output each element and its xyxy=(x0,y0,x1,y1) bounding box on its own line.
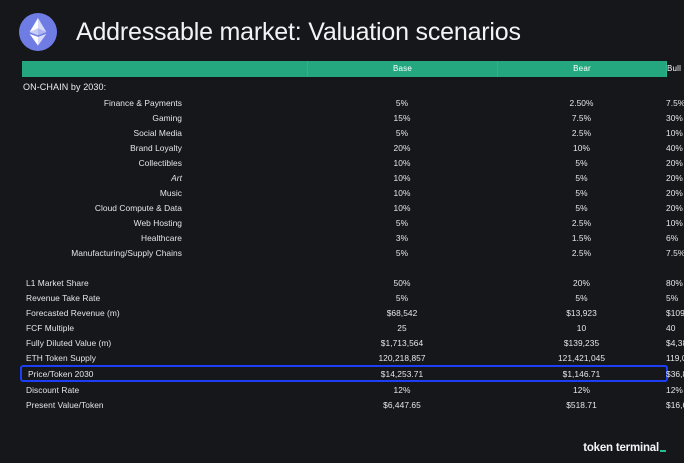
page-header: Addressable market: Valuation scenarios xyxy=(0,0,684,53)
row-label: Manufacturing/Supply Chains xyxy=(22,248,307,258)
row-label: Collectibles xyxy=(22,158,307,168)
cell-bear: 10 xyxy=(497,323,666,333)
row-label: Social Media xyxy=(22,128,307,138)
cell-bull: 12% xyxy=(666,385,683,395)
cell-bear: 2.5% xyxy=(497,218,666,228)
table-row: Art10%5%20% xyxy=(22,170,666,185)
valuation-rows: L1 Market Share50%20%80%Revenue Take Rat… xyxy=(22,275,666,412)
row-label: Fully Diluted Value (m) xyxy=(22,338,307,348)
cell-bear: 5% xyxy=(497,173,666,183)
cell-base: 5% xyxy=(307,128,497,138)
cell-base: $14,253.71 xyxy=(307,369,497,379)
cell-bear: $1,146.71 xyxy=(497,369,666,379)
valuation-table: Base Bear Bull ON-CHAIN by 2030: Finance… xyxy=(22,61,666,412)
cell-bull: 20% xyxy=(666,188,683,198)
cell-bull: 6% xyxy=(666,233,678,243)
cell-bull: 40 xyxy=(666,323,675,333)
cell-bull: $36,865.01 xyxy=(666,369,684,379)
table-row: Cloud Compute & Data10%5%20% xyxy=(22,200,666,215)
cell-bear: 5% xyxy=(497,293,666,303)
cell-base: 10% xyxy=(307,188,497,198)
row-label: Present Value/Token xyxy=(22,400,307,410)
cell-bull: 10% xyxy=(666,218,683,228)
table-row-highlighted: Price/Token 2030$14,253.71$1,146.71$36,8… xyxy=(20,365,668,382)
table-row: Present Value/Token$6,447.65$518.71$16,6… xyxy=(22,397,666,412)
cell-bear: $13,923 xyxy=(497,308,666,318)
cell-bear: $518.71 xyxy=(497,400,666,410)
cell-base: 5% xyxy=(307,98,497,108)
column-header-base: Base xyxy=(307,61,497,77)
cell-base: 50% xyxy=(307,278,497,288)
table-row: Brand Loyalty20%10%40% xyxy=(22,140,666,155)
row-label: Brand Loyalty xyxy=(22,143,307,153)
brand-cursor-icon xyxy=(660,450,666,452)
row-label: L1 Market Share xyxy=(22,278,307,288)
table-row: ETH Token Supply120,218,857121,421,04511… xyxy=(22,350,666,365)
cell-base: 120,218,857 xyxy=(307,353,497,363)
cell-base: 5% xyxy=(307,218,497,228)
section-spacer xyxy=(22,260,666,275)
page-title: Addressable market: Valuation scenarios xyxy=(76,18,521,47)
cell-bull: 40% xyxy=(666,143,683,153)
table-row: Discount Rate12%12%12% xyxy=(22,382,666,397)
cell-bear: 10% xyxy=(497,143,666,153)
column-header-bull: Bull xyxy=(666,61,681,77)
row-label: Cloud Compute & Data xyxy=(22,203,307,213)
row-label: Music xyxy=(22,188,307,198)
cell-bull: 119,016,669 xyxy=(666,353,684,363)
cell-bull: 7.5% xyxy=(666,248,684,258)
row-label: Web Hosting xyxy=(22,218,307,228)
cell-bear: 5% xyxy=(497,188,666,198)
row-label: Forecasted Revenue (m) xyxy=(22,308,307,318)
cell-bull: $4,386,725 xyxy=(666,338,684,348)
table-row: Social Media5%2.5%10% xyxy=(22,125,666,140)
cell-bull: 30% xyxy=(666,113,683,123)
row-label: Finance & Payments xyxy=(22,98,307,108)
cell-bear: 2.5% xyxy=(497,248,666,258)
cell-bear: $139,235 xyxy=(497,338,666,348)
table-column-header: Base Bear Bull xyxy=(22,61,666,77)
row-label: Discount Rate xyxy=(22,385,307,395)
row-label: Revenue Take Rate xyxy=(22,293,307,303)
cell-base: 10% xyxy=(307,203,497,213)
cell-bull: $16,675.86 xyxy=(666,400,684,410)
cell-base: 10% xyxy=(307,158,497,168)
row-label: Art xyxy=(22,173,307,183)
cell-base: $1,713,564 xyxy=(307,338,497,348)
cell-bull: 10% xyxy=(666,128,683,138)
cell-bear: 5% xyxy=(497,203,666,213)
table-row: Gaming15%7.5%30% xyxy=(22,110,666,125)
cell-base: 15% xyxy=(307,113,497,123)
column-header-bear: Bear xyxy=(497,61,666,77)
table-row: Manufacturing/Supply Chains5%2.5%7.5% xyxy=(22,245,666,260)
cell-bear: 12% xyxy=(497,385,666,395)
table-row: Forecasted Revenue (m)$68,542$13,923$109… xyxy=(22,305,666,320)
row-label: FCF Multiple xyxy=(22,323,307,333)
cell-bear: 7.5% xyxy=(497,113,666,123)
table-row: Finance & Payments5%2.50%7.5% xyxy=(22,95,666,110)
cell-bull: 7.5% xyxy=(666,98,684,108)
row-label: ETH Token Supply xyxy=(22,353,307,363)
cell-base: 12% xyxy=(307,385,497,395)
table-row: Music10%5%20% xyxy=(22,185,666,200)
cell-base: 10% xyxy=(307,173,497,183)
table-row: FCF Multiple251040 xyxy=(22,320,666,335)
cell-base: $68,542 xyxy=(307,308,497,318)
brand-name: token terminal xyxy=(583,442,659,454)
cell-bull: 20% xyxy=(666,203,683,213)
table-row: Web Hosting5%2.5%10% xyxy=(22,215,666,230)
cell-bear: 121,421,045 xyxy=(497,353,666,363)
cell-bear: 1.5% xyxy=(497,233,666,243)
row-label: Price/Token 2030 xyxy=(22,369,307,379)
ethereum-icon xyxy=(19,13,57,51)
cell-base: 5% xyxy=(307,248,497,258)
cell-bull: 20% xyxy=(666,173,683,183)
table-row: Healthcare3%1.5%6% xyxy=(22,230,666,245)
cell-base: 3% xyxy=(307,233,497,243)
cell-base: 5% xyxy=(307,293,497,303)
row-label: Healthcare xyxy=(22,233,307,243)
cell-bull: $109,668 xyxy=(666,308,684,318)
table-row: L1 Market Share50%20%80% xyxy=(22,275,666,290)
table-row: Collectibles10%5%20% xyxy=(22,155,666,170)
row-label: Gaming xyxy=(22,113,307,123)
cell-bull: 80% xyxy=(666,278,683,288)
section-title-onchain: ON-CHAIN by 2030: xyxy=(22,77,666,95)
token-terminal-logo: token terminal xyxy=(583,442,666,454)
cell-bear: 2.5% xyxy=(497,128,666,138)
cell-base: 25 xyxy=(307,323,497,333)
table-row: Revenue Take Rate5%5%5% xyxy=(22,290,666,305)
cell-bull: 5% xyxy=(666,293,678,303)
cell-base: $6,447.65 xyxy=(307,400,497,410)
cell-base: 20% xyxy=(307,143,497,153)
cell-bull: 20% xyxy=(666,158,683,168)
cell-bear: 20% xyxy=(497,278,666,288)
cell-bear: 5% xyxy=(497,158,666,168)
onchain-rows: Finance & Payments5%2.50%7.5%Gaming15%7.… xyxy=(22,95,666,260)
table-row: Fully Diluted Value (m)$1,713,564$139,23… xyxy=(22,335,666,350)
cell-bear: 2.50% xyxy=(497,98,666,108)
